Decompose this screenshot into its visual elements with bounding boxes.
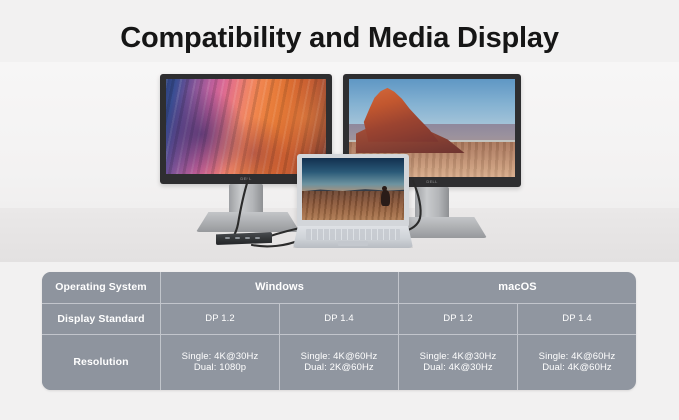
resolution-windows-dp14: Single: 4K@60Hz Dual: 2K@60Hz: [280, 335, 399, 390]
row-label-resolution: Resolution: [42, 335, 161, 390]
laptop-trackpad: [338, 241, 368, 246]
compatibility-table: Operating System Windows macOS Display S…: [42, 272, 636, 390]
resolution-single: Single: 4K@30Hz: [182, 351, 259, 363]
display-standard-windows-dp12: DP 1.2: [161, 304, 280, 333]
resolution-macos-dp12: Single: 4K@30Hz Dual: 4K@30Hz: [399, 335, 518, 390]
product-infographic: Compatibility and Media Display DELL: [0, 0, 679, 420]
dock-port: [245, 237, 250, 239]
dock-port: [255, 237, 260, 239]
display-standard-macos-dp12: DP 1.2: [399, 304, 518, 333]
resolution-single: Single: 4K@60Hz: [539, 351, 616, 363]
product-photo: DELL DELL: [0, 62, 679, 262]
dock-port: [235, 237, 240, 239]
resolution-macos-dp14: Single: 4K@60Hz Dual: 4K@60Hz: [518, 335, 636, 390]
resolution-dual: Dual: 4K@30Hz: [420, 362, 497, 374]
table-row-display-standard: Display Standard DP 1.2 DP 1.4 DP 1.2 DP…: [42, 304, 636, 334]
laptop: [293, 154, 413, 254]
display-standard-macos-dp14: DP 1.4: [518, 304, 636, 333]
os-group-windows: Windows: [161, 272, 399, 303]
laptop-keyboard: [306, 229, 400, 240]
resolution-single: Single: 4K@30Hz: [420, 351, 497, 363]
resolution-dual: Dual: 2K@60Hz: [301, 362, 378, 374]
resolution-windows-dp12: Single: 4K@30Hz Dual: 1080p: [161, 335, 280, 390]
page-title: Compatibility and Media Display: [0, 22, 679, 55]
resolution-single: Single: 4K@60Hz: [301, 351, 378, 363]
laptop-screen: [302, 158, 404, 220]
display-standard-windows-dp14: DP 1.4: [280, 304, 399, 333]
dock-port: [225, 237, 230, 239]
laptop-wallpaper: [302, 158, 404, 220]
table-row-operating-system: Operating System Windows macOS: [42, 272, 636, 304]
table-row-resolution: Resolution Single: 4K@30Hz Dual: 1080p S…: [42, 335, 636, 390]
row-label-display-standard: Display Standard: [42, 304, 161, 333]
resolution-dual: Dual: 4K@60Hz: [539, 362, 616, 374]
row-label-operating-system: Operating System: [42, 272, 161, 303]
resolution-dual: Dual: 1080p: [182, 362, 259, 374]
os-group-macos: macOS: [399, 272, 636, 303]
wallpaper-figure: [381, 190, 390, 206]
